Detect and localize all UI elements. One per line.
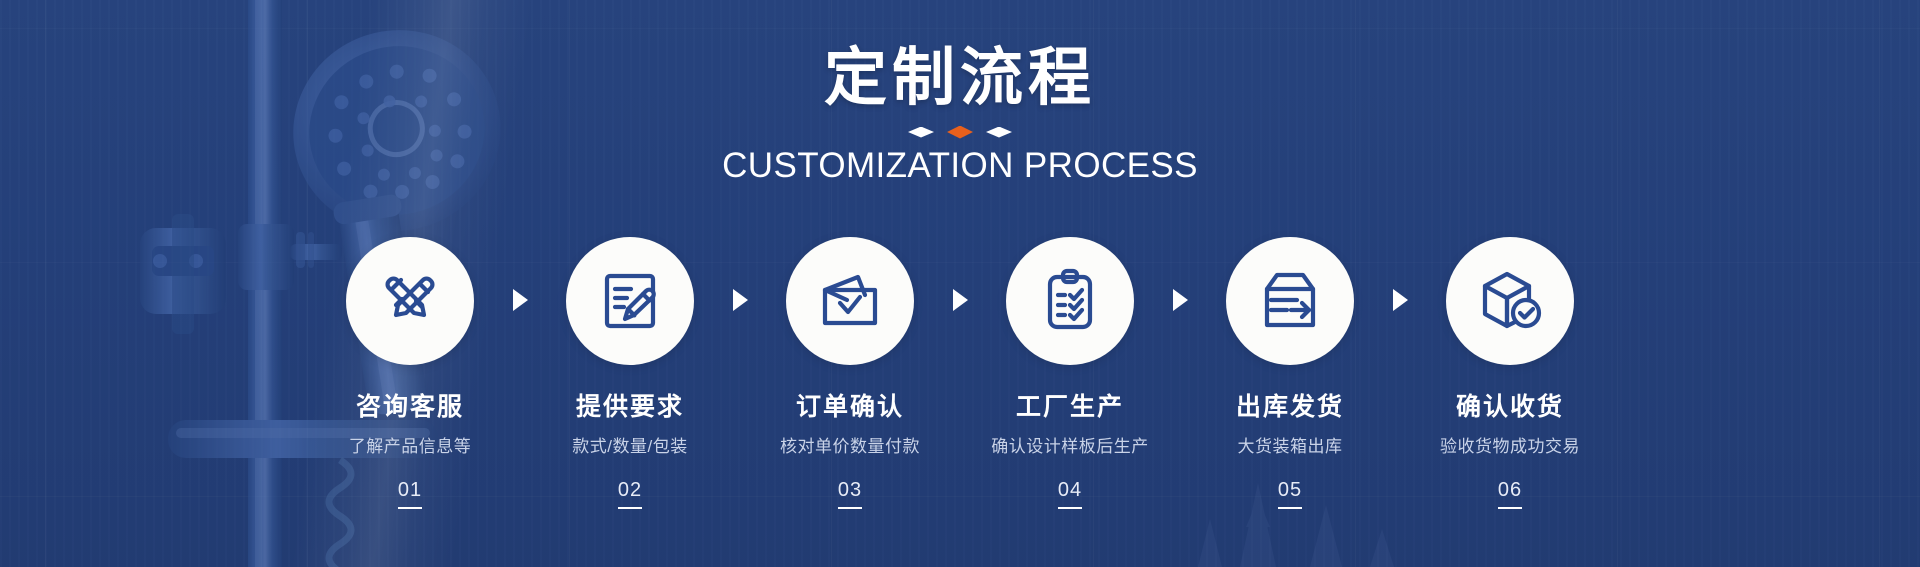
clipboard-checklist-icon [1035,266,1105,336]
crossed-pens-icon [374,265,446,337]
diamond-divider [0,124,1920,140]
page-subtitle: CUSTOMIZATION PROCESS [0,146,1920,186]
step-separator-arrow-5 [1354,237,1446,311]
heading-block: 定制流程 CUSTOMIZATION PROCESS [0,44,1920,186]
triangle-right-icon [513,289,528,311]
step-subtitle: 大货装箱出库 [1238,432,1343,457]
triangle-right-icon [733,289,748,311]
folder-check-icon [812,263,888,339]
step-separator-arrow-4 [1134,237,1226,311]
step-separator-arrow-2 [694,237,786,311]
triangle-right-icon [953,289,968,311]
step-icon-circle [786,237,914,365]
process-step-5[interactable]: 出库发货 大货装箱出库 05 [1226,237,1354,509]
step-icon-circle [1226,237,1354,365]
process-step-6[interactable]: 确认收货 验收货物成功交易 06 [1446,237,1574,509]
diamond-white-left-icon [908,127,934,138]
step-icon-circle [1006,237,1134,365]
step-icon-circle [566,237,694,365]
step-separator-arrow-1 [474,237,566,311]
customization-process-banner: 定制流程 CUSTOMIZATION PROCESS [0,0,1920,567]
step-subtitle: 核对单价数量付款 [780,432,920,457]
step-number: 03 [838,479,862,509]
step-title: 出库发货 [1236,387,1344,423]
step-title: 确认收货 [1456,387,1564,423]
process-step-1[interactable]: 咨询客服 了解产品信息等 01 [346,237,474,509]
triangle-right-icon [1393,289,1408,311]
step-number: 01 [398,479,422,509]
package-check-icon [1473,264,1547,338]
box-outgoing-arrow-icon [1253,264,1327,338]
step-subtitle: 了解产品信息等 [349,432,472,457]
document-pencil-icon [594,265,666,337]
step-icon-circle [346,237,474,365]
step-icon-circle [1446,237,1574,365]
triangle-right-icon [1173,289,1188,311]
step-subtitle: 验收货物成功交易 [1440,432,1580,457]
step-subtitle: 款式/数量/包装 [572,432,687,457]
step-title: 订单确认 [796,387,904,423]
diamond-white-right-icon [986,127,1012,138]
process-step-2[interactable]: 提供要求 款式/数量/包装 02 [566,237,694,509]
step-separator-arrow-3 [914,237,1006,311]
step-number: 02 [618,479,642,509]
diamond-orange-center-icon [947,126,973,139]
process-step-3[interactable]: 订单确认 核对单价数量付款 03 [786,237,914,509]
step-number: 04 [1058,479,1082,509]
step-title: 工厂生产 [1016,387,1124,423]
process-step-4[interactable]: 工厂生产 确认设计样板后生产 04 [1006,237,1134,509]
step-number: 06 [1498,479,1522,509]
page-title: 定制流程 [0,44,1920,112]
process-steps: 咨询客服 了解产品信息等 01 提供要求 款式 [0,237,1920,509]
step-title: 提供要求 [576,387,684,423]
step-subtitle: 确认设计样板后生产 [991,432,1149,457]
step-title: 咨询客服 [356,387,464,423]
step-number: 05 [1278,479,1302,509]
